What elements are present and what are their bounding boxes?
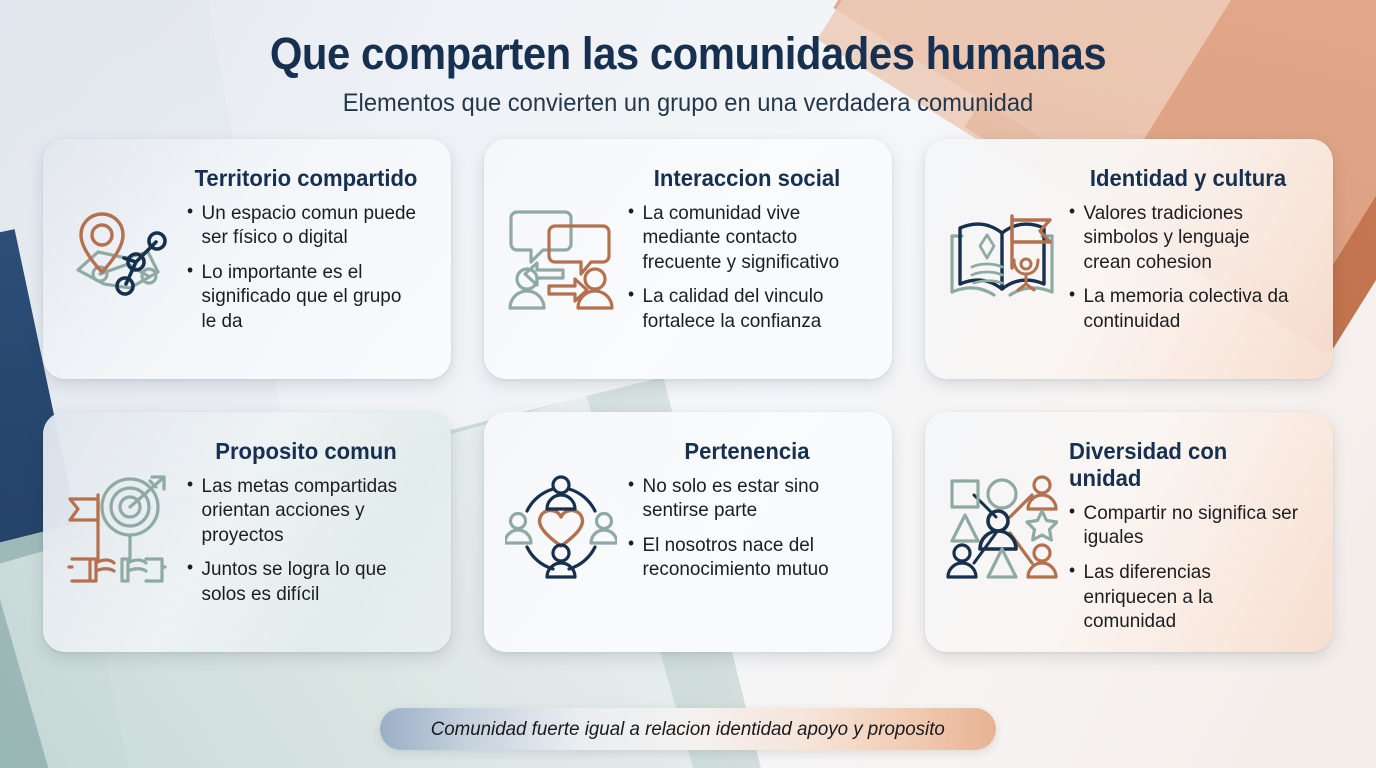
footer-banner: Comunidad fuerte igual a relacion identi… [380, 708, 996, 750]
card-body: Territorio compartido Un espacio comun p… [187, 161, 425, 334]
card-bullets: No solo es estar sino sentirse parte El … [628, 474, 866, 582]
card-title: Interaccion social [633, 165, 861, 192]
list-item: Compartir no significa ser iguales [1069, 501, 1300, 550]
card-body: Diversidad con unidad Compartir no signi… [1069, 434, 1307, 634]
cards-grid: Territorio compartido Un espacio comun p… [43, 139, 1333, 652]
card-diversidad-con-unidad[interactable]: Diversidad con unidad Compartir no signi… [925, 412, 1333, 652]
list-item: La memoria colectiva da continuidad [1069, 284, 1300, 333]
infographic-canvas: Que comparten las comunidades humanas El… [0, 0, 1376, 768]
list-item: El nosotros nace del reconocimiento mutu… [628, 533, 859, 582]
people-circle-heart-icon [502, 470, 620, 588]
card-title: Identidad y cultura [1074, 165, 1302, 192]
card-proposito-comun[interactable]: Proposito comun Las metas compartidas or… [43, 412, 451, 652]
list-item: Un espacio comun puede ser físico o digi… [187, 201, 418, 250]
open-book-flag-icon [943, 197, 1061, 315]
card-body: Identidad y cultura Valores tradiciones … [1069, 161, 1307, 334]
map-pin-network-icon [61, 197, 179, 315]
card-identidad-y-cultura[interactable]: Identidad y cultura Valores tradiciones … [925, 139, 1333, 379]
card-title: Pertenencia [633, 438, 861, 465]
list-item: Las metas compartidas orientan acciones … [187, 474, 418, 548]
list-item: La calidad del vinculo fortalece la conf… [628, 284, 859, 333]
list-item: No solo es estar sino sentirse parte [628, 474, 859, 523]
card-territorio-compartido[interactable]: Territorio compartido Un espacio comun p… [43, 139, 451, 379]
card-bullets: Valores tradiciones simbolos y lenguaje … [1069, 201, 1307, 334]
page-subtitle: Elementos que convierten un grupo en una… [34, 89, 1341, 118]
card-interaccion-social[interactable]: Interaccion social La comunidad vive med… [484, 139, 892, 379]
list-item: Juntos se logra lo que solos es difícil [187, 557, 418, 606]
card-bullets: Las metas compartidas orientan acciones … [187, 474, 425, 607]
card-title: Diversidad con unidad [1069, 438, 1297, 492]
speech-bubbles-people-icon [502, 197, 620, 315]
card-bullets: Un espacio comun puede ser físico o digi… [187, 201, 425, 334]
footer-text: Comunidad fuerte igual a relacion identi… [431, 718, 945, 741]
page-title: Que comparten las comunidades humanas [48, 30, 1328, 79]
list-item: Lo importante es el significado que el g… [187, 260, 418, 334]
card-title: Proposito comun [192, 438, 420, 465]
header: Que comparten las comunidades humanas El… [0, 0, 1376, 118]
card-bullets: Compartir no significa ser iguales Las d… [1069, 501, 1307, 634]
list-item: Las diferencias enriquecen a la comunida… [1069, 560, 1300, 634]
hands-flag-target-icon [61, 470, 179, 588]
card-bullets: La comunidad vive mediante contacto frec… [628, 201, 866, 334]
card-title: Territorio compartido [192, 165, 420, 192]
list-item: Valores tradiciones simbolos y lenguaje … [1069, 201, 1300, 275]
list-item: La comunidad vive mediante contacto frec… [628, 201, 859, 275]
card-body: Proposito comun Las metas compartidas or… [187, 434, 425, 607]
card-body: Interaccion social La comunidad vive med… [628, 161, 866, 334]
shapes-people-grid-icon [943, 470, 1061, 588]
card-body: Pertenencia No solo es estar sino sentir… [628, 434, 866, 582]
card-pertenencia[interactable]: Pertenencia No solo es estar sino sentir… [484, 412, 892, 652]
